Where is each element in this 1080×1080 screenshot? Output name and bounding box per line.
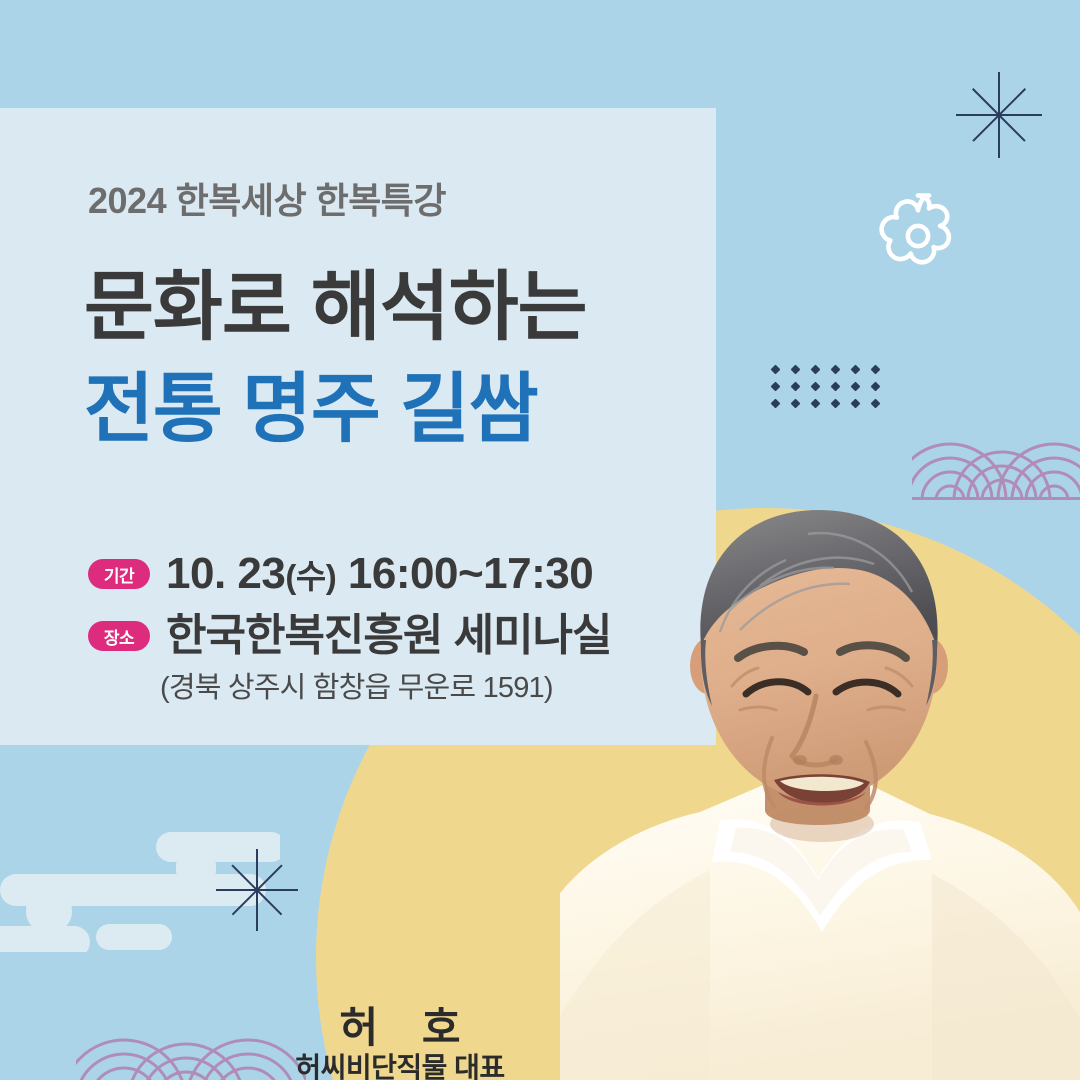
date-main: 10. 23	[166, 549, 285, 598]
place-value: 한국한복진흥원 세미나실	[166, 614, 612, 658]
date-value: 10. 23(수) 16:00~17:30	[166, 552, 593, 596]
date-badge: 기간	[88, 559, 150, 589]
venue-address: (경북 상주시 함창읍 무운로 1591)	[160, 664, 553, 706]
speaker-role: 허씨비단직물 대표	[150, 1046, 650, 1080]
poster-kicker: 2024 한복세상 한복특강	[88, 172, 446, 224]
place-info-row: 장소 한국한복진흥원 세미나실	[88, 614, 612, 658]
place-badge: 장소	[88, 621, 150, 651]
dot-grid-icon	[772, 366, 892, 417]
event-poster: 2024 한복세상 한복특강 문화로 해석하는 전통 명주 길쌈 기간 10. …	[0, 0, 1080, 1080]
flower-icon	[872, 190, 964, 282]
speaker-photo	[560, 480, 1080, 1080]
date-time: 16:00~17:30	[336, 549, 593, 598]
star-icon	[212, 845, 302, 935]
poster-title-line-1: 문화로 해석하는	[84, 270, 587, 346]
date-info-row: 기간 10. 23(수) 16:00~17:30	[88, 552, 593, 596]
date-dayofweek: (수)	[285, 558, 336, 595]
poster-title-line-2: 전통 명주 길쌈	[84, 372, 538, 448]
star-icon	[954, 70, 1044, 160]
